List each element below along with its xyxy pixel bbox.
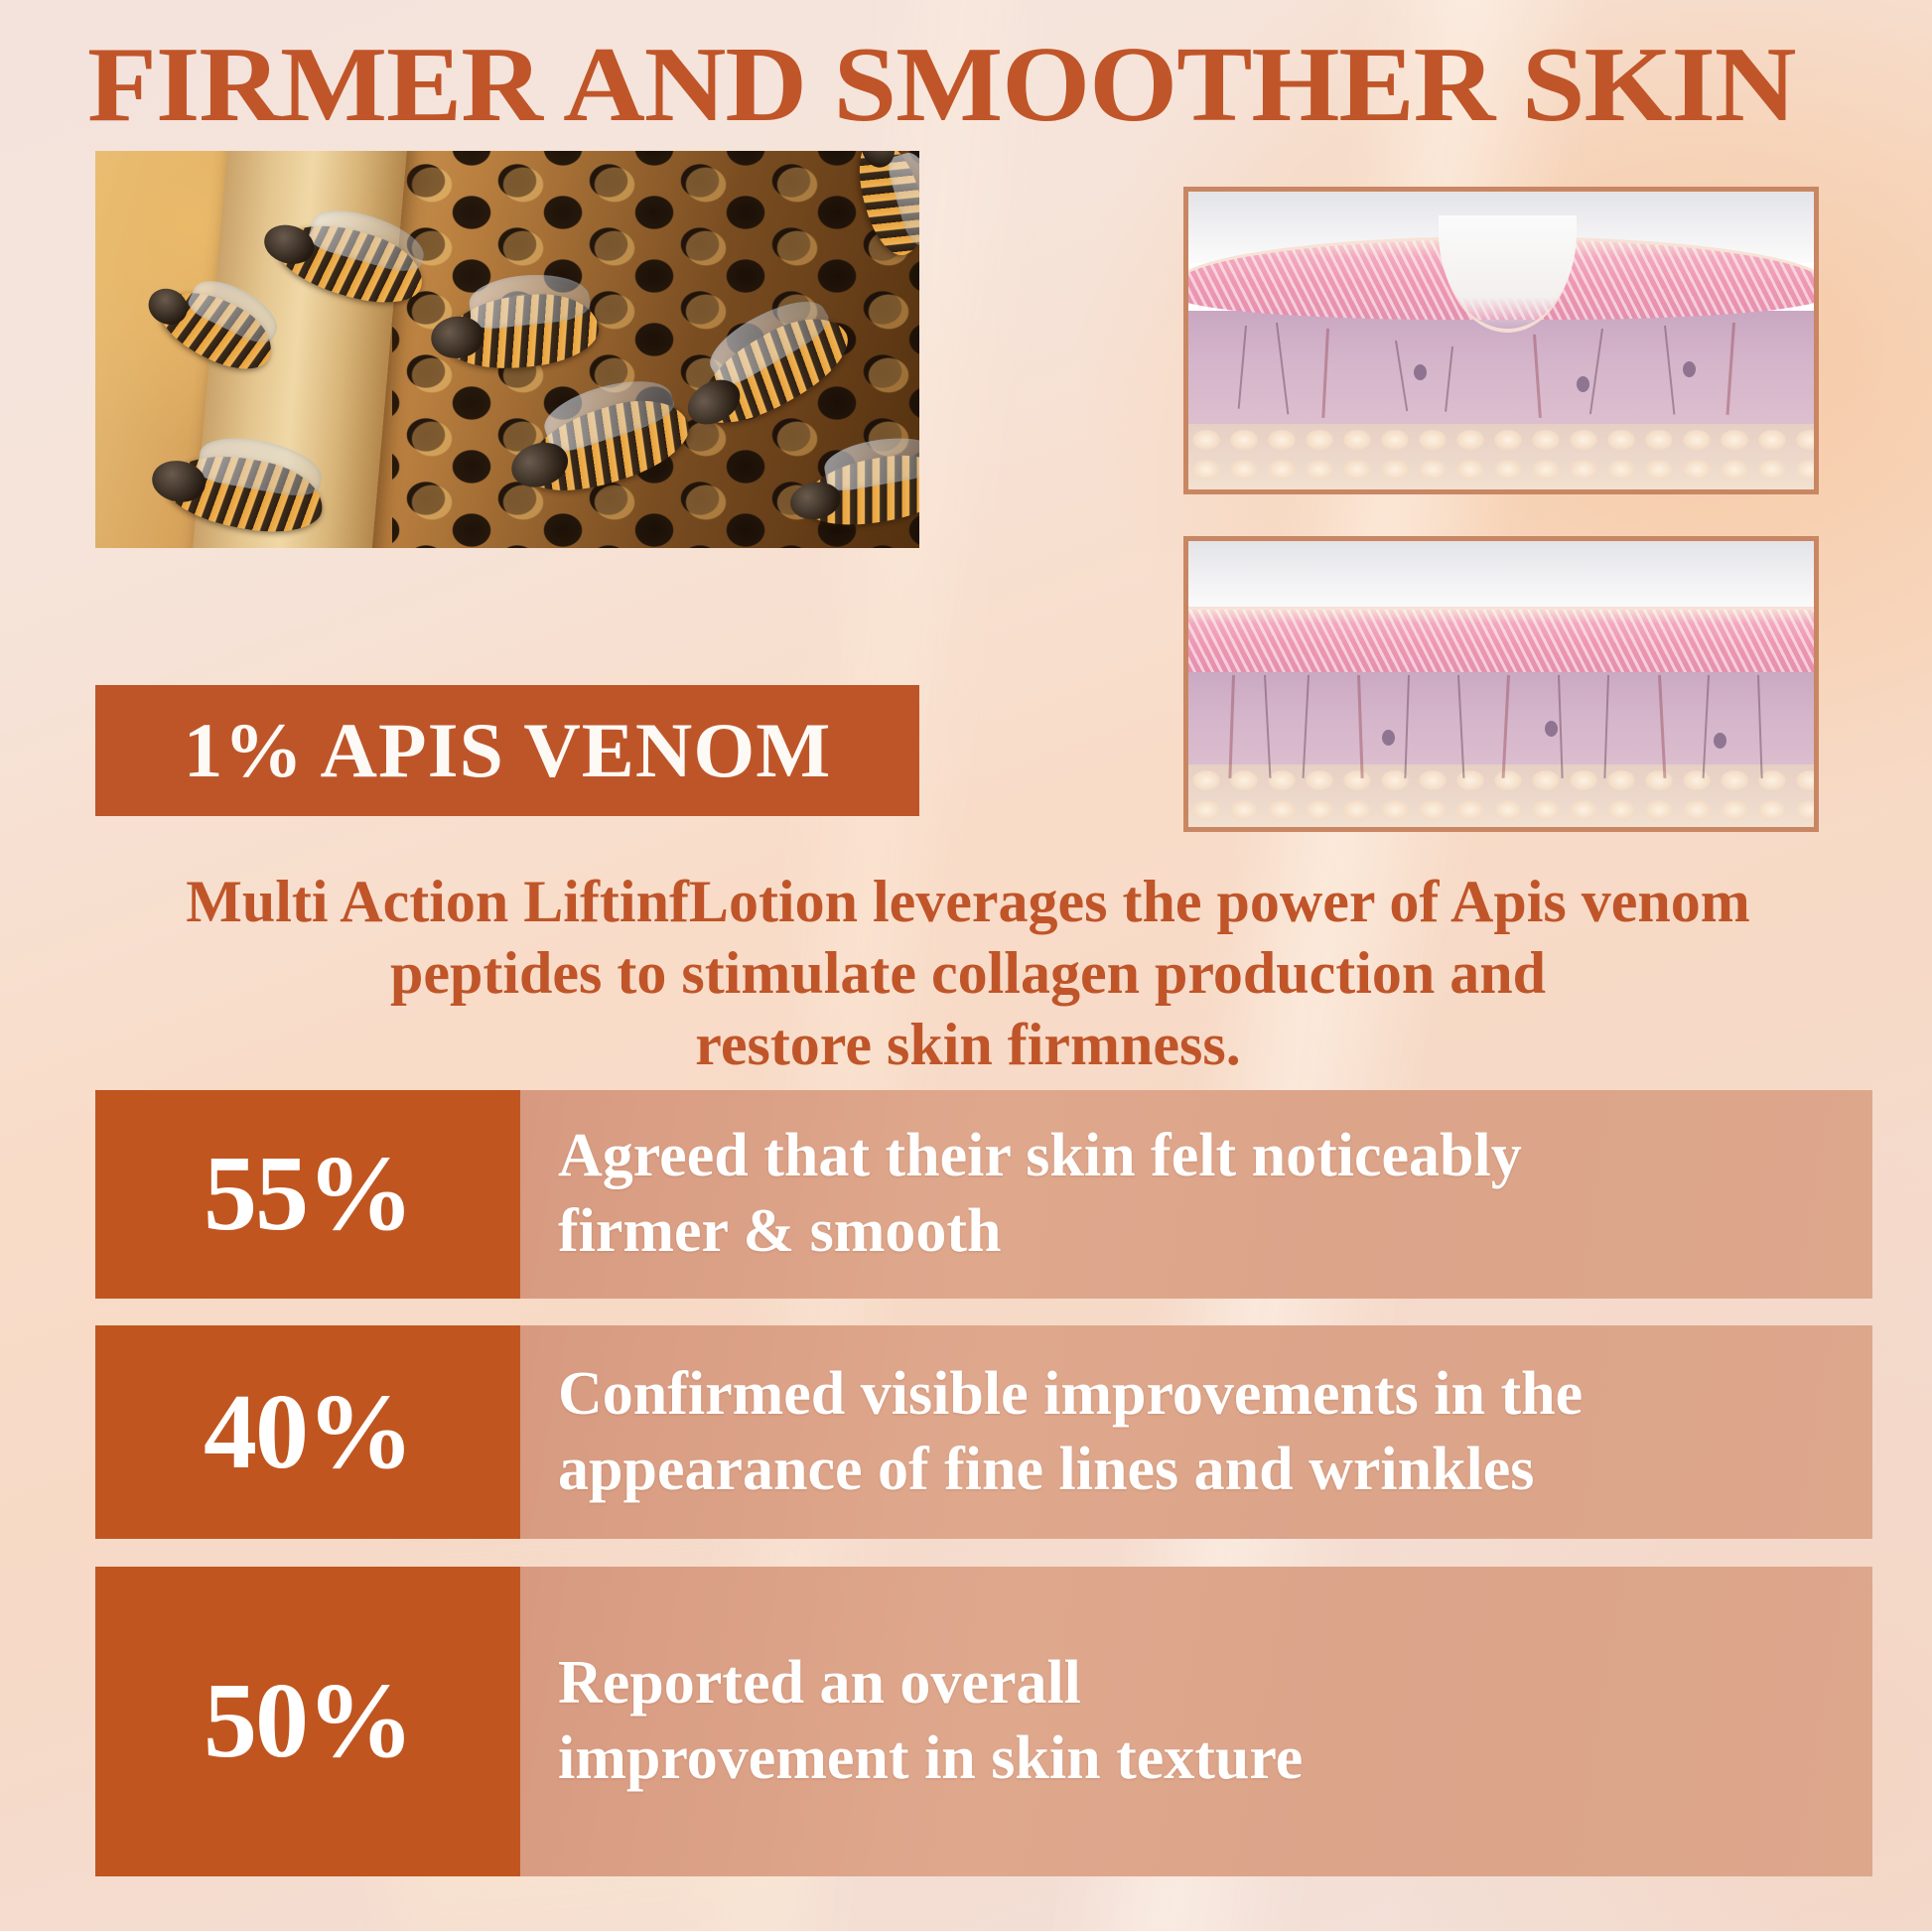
stat-description-line-1: Agreed that their skin felt noticeably	[558, 1119, 1522, 1194]
stat-description: Agreed that their skin felt noticeably f…	[558, 1119, 1522, 1269]
product-description: Multi Action LiftinfLotion leverages the…	[119, 866, 1817, 1080]
stat-description-box: Confirmed visible improvements in the ap…	[520, 1325, 1872, 1539]
stat-percent-box: 40%	[95, 1325, 520, 1539]
description-line-1: Multi Action LiftinfLotion leverages the…	[119, 866, 1817, 937]
page-title: FIRMER AND SMOOTHER SKIN	[87, 32, 1932, 139]
stat-description: Confirmed visible improvements in the ap…	[558, 1357, 1583, 1507]
stat-percent-value: 40%	[204, 1379, 412, 1486]
stat-percent-value: 50%	[204, 1668, 412, 1775]
dermal-cell	[1683, 361, 1696, 377]
stat-description-line-2: appearance of fine lines and wrinkles	[558, 1433, 1583, 1508]
skin-subcutaneous-fat-layer	[1188, 424, 1814, 489]
honeycomb-bee-photo	[95, 151, 919, 548]
stat-description-line-2: improvement in skin texture	[558, 1722, 1303, 1797]
stat-percent-value: 55%	[204, 1141, 412, 1248]
skin-cross-section-firm-image	[1183, 536, 1819, 832]
apis-venom-label: 1% APIS VENOM	[184, 712, 832, 789]
stat-row: 55% Agreed that their skin felt noticeab…	[95, 1090, 1872, 1299]
bee-wing	[886, 151, 919, 248]
stat-row: 40% Confirmed visible improvements in th…	[95, 1325, 1872, 1539]
description-line-3: restore skin firmness.	[119, 1009, 1817, 1080]
dermal-cell	[1577, 376, 1589, 392]
skin-layers	[1188, 192, 1814, 489]
skin-epidermis-layer	[1183, 610, 1819, 672]
description-line-2: peptides to stimulate collagen productio…	[119, 937, 1817, 1009]
stat-description-line-2: firmer & smooth	[558, 1194, 1522, 1270]
stat-description-box: Reported an overall improvement in skin …	[520, 1567, 1872, 1876]
stat-description-line-1: Reported an overall	[558, 1646, 1303, 1722]
skin-layers	[1188, 541, 1814, 827]
dermal-cell	[1414, 364, 1427, 380]
stat-row: 50% Reported an overall improvement in s…	[95, 1567, 1872, 1876]
stat-description: Reported an overall improvement in skin …	[558, 1646, 1303, 1796]
skin-cross-section-wrinkled-image	[1183, 187, 1819, 494]
stat-percent-box: 50%	[95, 1567, 520, 1876]
stat-percent-box: 55%	[95, 1090, 520, 1299]
apis-venom-banner: 1% APIS VENOM	[95, 685, 919, 816]
stat-description-line-1: Confirmed visible improvements in the	[558, 1357, 1583, 1433]
skin-surface-air	[1188, 541, 1814, 610]
infographic-poster: FIRMER AND SMOOTHER SKIN	[0, 0, 1932, 1931]
stat-description-box: Agreed that their skin felt noticeably f…	[520, 1090, 1872, 1299]
